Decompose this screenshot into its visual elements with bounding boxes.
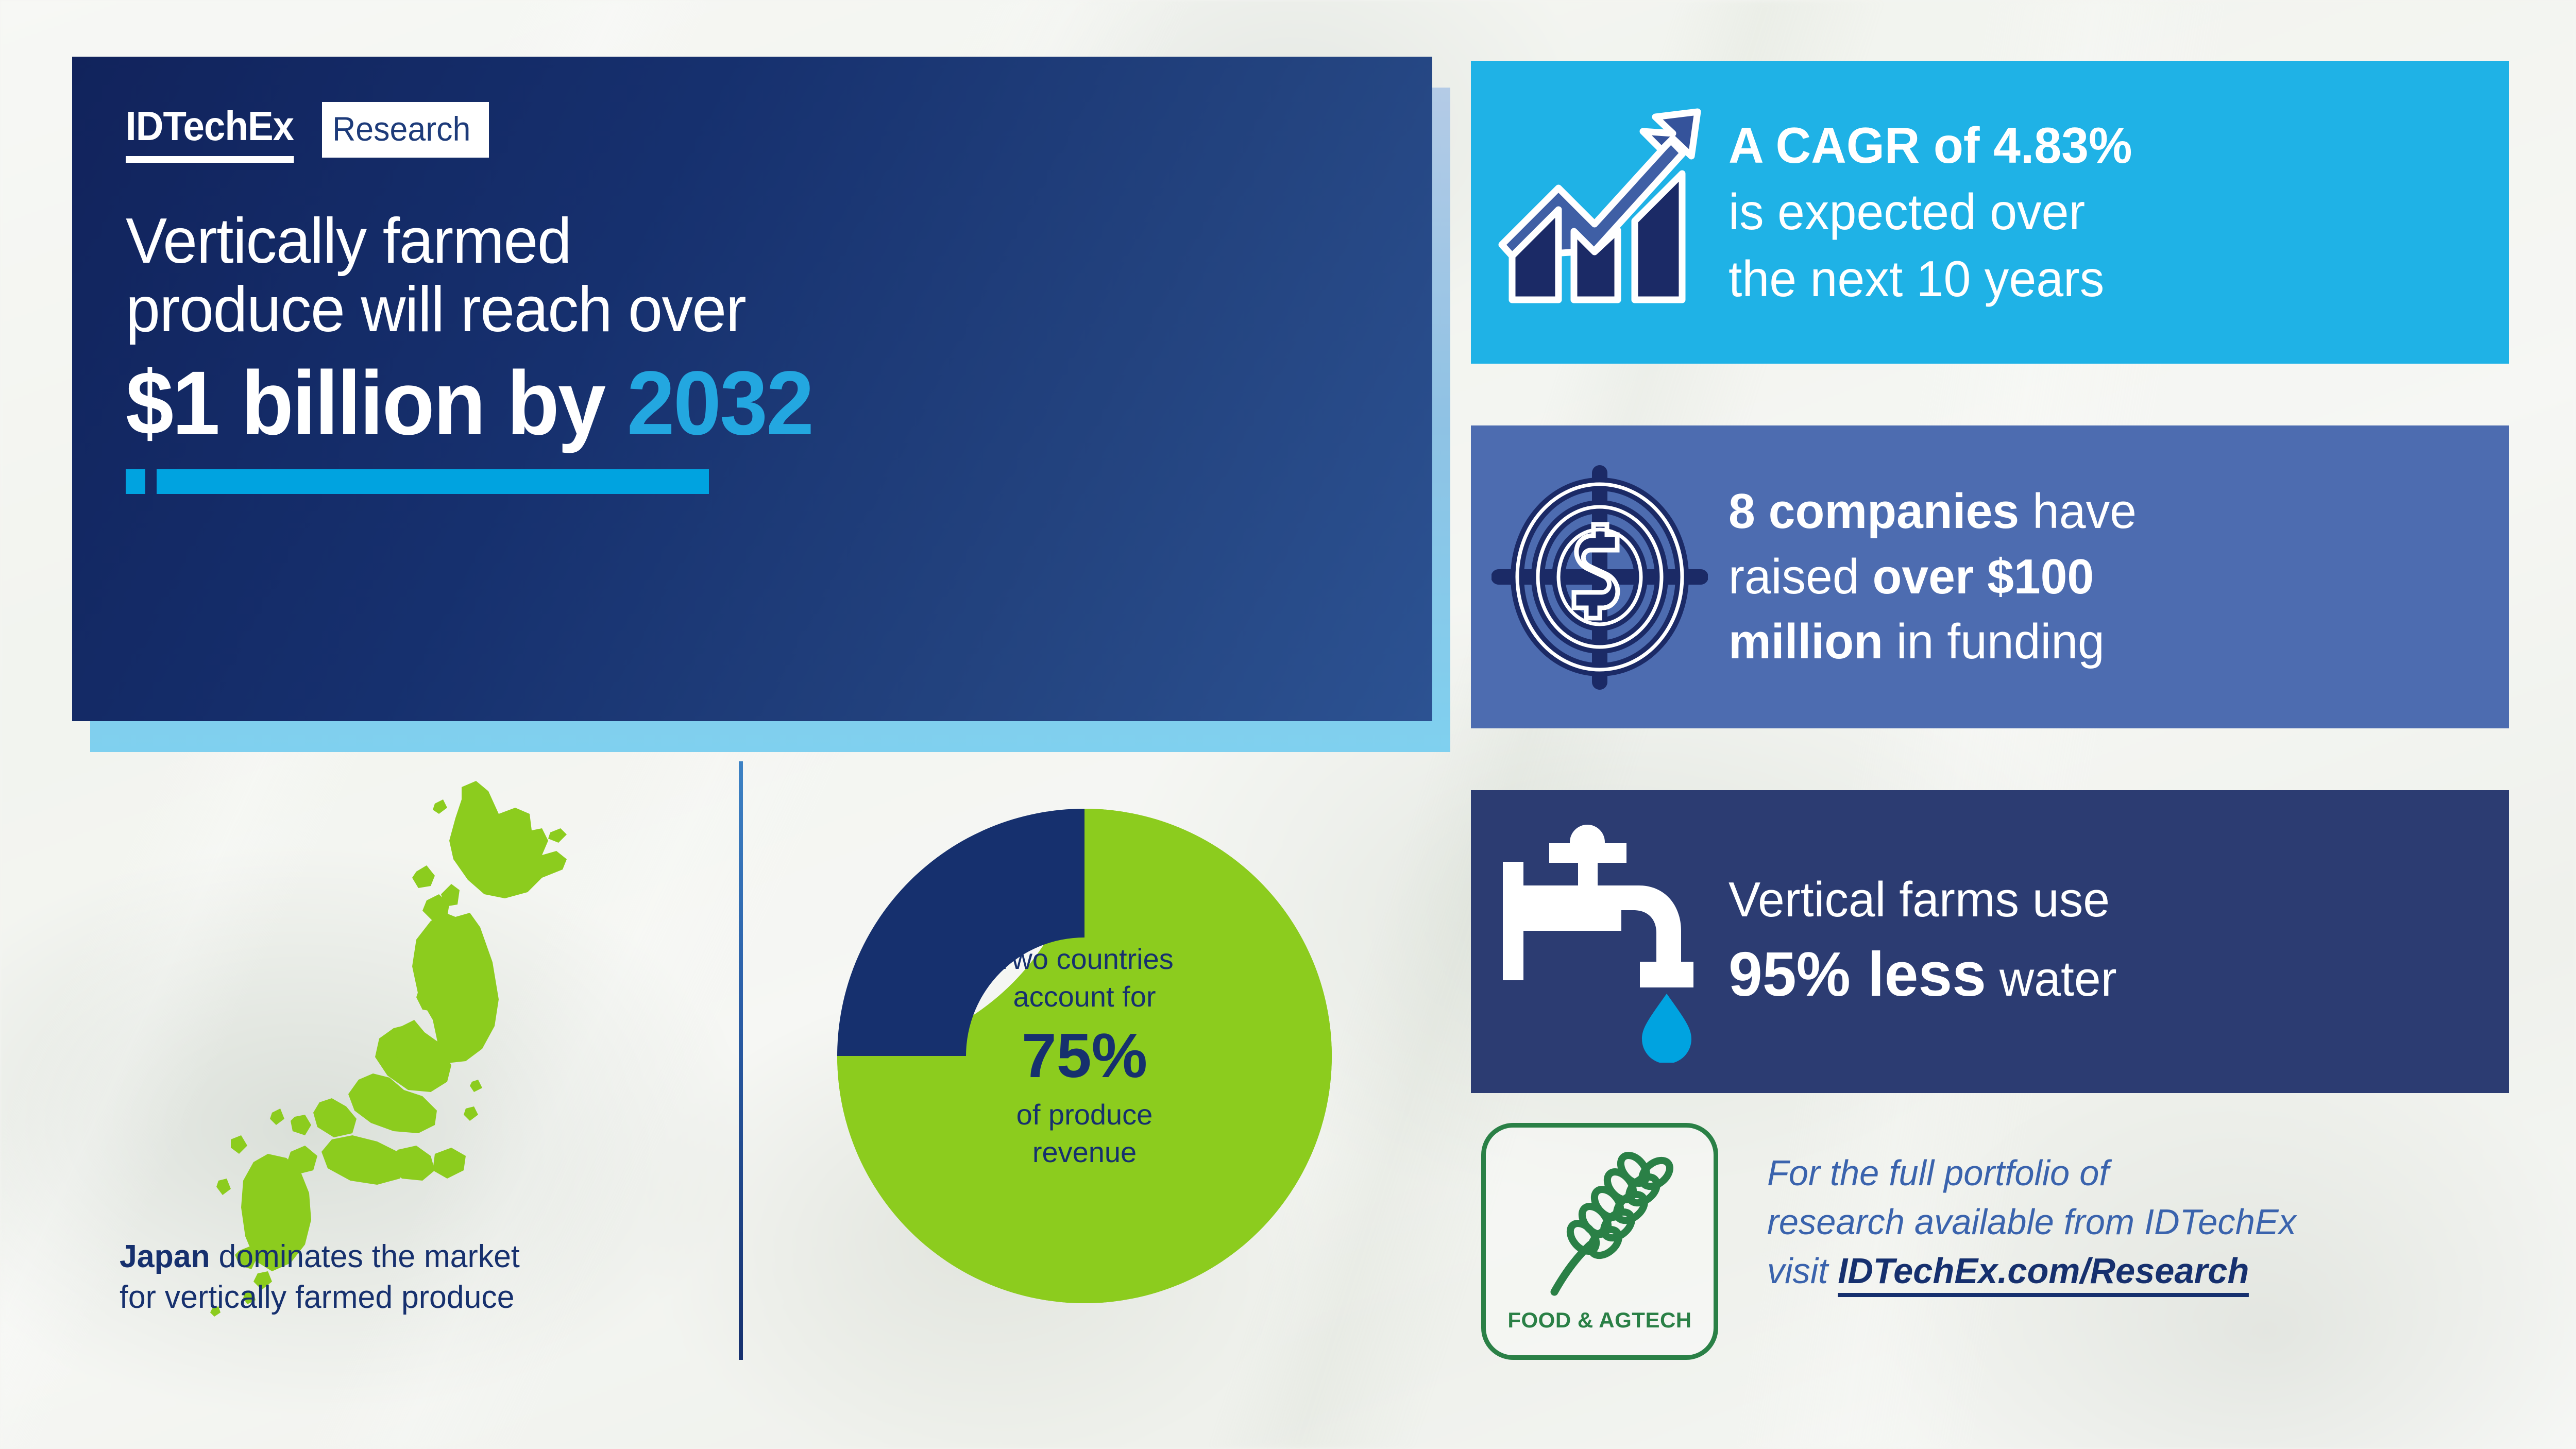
funding-raised: raised bbox=[1728, 549, 1872, 604]
hero-panel: IDTechEx Research Vertically farmed prod… bbox=[72, 57, 1432, 721]
japan-caption-rest: dominates the market bbox=[210, 1239, 520, 1274]
donut-label-line2: account for bbox=[1013, 978, 1156, 1016]
footer-cta-text: For the full portfolio of research avail… bbox=[1767, 1149, 2524, 1296]
donut-label-line1: Two countries bbox=[995, 941, 1174, 978]
hero-line-2: produce will reach over bbox=[126, 276, 1393, 344]
water-line1: Vertical farms use bbox=[1728, 872, 2110, 927]
footer-line2: research available from IDTechEx bbox=[1767, 1202, 2296, 1242]
stat-panel-funding-text: 8 companies have raised over $100 millio… bbox=[1728, 479, 2486, 675]
footer-line1: For the full portfolio of bbox=[1767, 1153, 2109, 1193]
cagr-line3: the next 10 years bbox=[1728, 250, 2104, 307]
japan-caption: Japan dominates the market for verticall… bbox=[120, 1236, 695, 1318]
donut-label-line4: revenue bbox=[1032, 1134, 1137, 1171]
funding-have: have bbox=[2019, 484, 2137, 539]
growth-chart-icon bbox=[1471, 101, 1728, 323]
section-divider bbox=[739, 761, 743, 1360]
faucet-drop-icon bbox=[1471, 821, 1728, 1063]
funding-amount: over $100 bbox=[1872, 549, 2094, 604]
japan-caption-country: Japan bbox=[120, 1239, 210, 1274]
funding-million: million bbox=[1728, 614, 1883, 669]
hero-heading: Vertically farmed produce will reach ove… bbox=[126, 207, 1432, 449]
food-agtech-badge: FOOD & AGTECH bbox=[1481, 1123, 1718, 1360]
stat-panel-water: Vertical farms use 95% less water bbox=[1471, 790, 2509, 1093]
funding-suffix: in funding bbox=[1883, 614, 2105, 669]
hero-headline-amount: $1 billion by bbox=[126, 353, 604, 454]
badge-label: FOOD & AGTECH bbox=[1507, 1308, 1691, 1333]
dollar-target-icon bbox=[1471, 464, 1728, 690]
funding-count: 8 companies bbox=[1728, 484, 2019, 539]
hero-rule-bar bbox=[157, 469, 709, 494]
idtechex-research-link[interactable]: IDTechEx.com/Research bbox=[1838, 1251, 2249, 1297]
donut-label-line3: of produce bbox=[1016, 1096, 1153, 1134]
produce-revenue-donut-chart: Two countries account for 75% of produce… bbox=[801, 773, 1368, 1339]
hero-headline: $1 billion by 2032 bbox=[126, 358, 1367, 449]
logo-research-text: Research bbox=[332, 109, 470, 148]
logo-research-box: Research bbox=[322, 102, 489, 158]
hero-line-1: Vertically farmed bbox=[126, 207, 1393, 276]
donut-center-label: Two countries account for 75% of produce… bbox=[801, 773, 1368, 1339]
hero-accent-rule bbox=[126, 469, 1432, 494]
water-value: 95% less bbox=[1728, 939, 1986, 1009]
footer-visit-label: visit bbox=[1767, 1251, 1838, 1291]
logo-idtechex-text: IDTechEx bbox=[126, 102, 306, 158]
stat-panel-water-text: Vertical farms use 95% less water bbox=[1728, 867, 2486, 1016]
cagr-value-text: A CAGR of 4.83% bbox=[1728, 117, 2132, 174]
stat-panel-cagr: A CAGR of 4.83% is expected over the nex… bbox=[1471, 61, 2509, 364]
donut-value: 75% bbox=[1022, 1018, 1147, 1093]
hero-rule-dot bbox=[126, 469, 145, 494]
stat-panel-cagr-text: A CAGR of 4.83% is expected over the nex… bbox=[1728, 112, 2486, 312]
hero-headline-year: 2032 bbox=[627, 353, 813, 454]
japan-caption-line2: for vertically farmed produce bbox=[120, 1280, 515, 1315]
cagr-line2: is expected over bbox=[1728, 183, 2085, 240]
brand-logo: IDTechEx Research bbox=[126, 102, 1432, 158]
water-line2-rest: water bbox=[1986, 951, 2117, 1007]
stat-panel-funding: 8 companies have raised over $100 millio… bbox=[1471, 425, 2509, 728]
wheat-stalk-icon bbox=[1522, 1128, 1677, 1308]
